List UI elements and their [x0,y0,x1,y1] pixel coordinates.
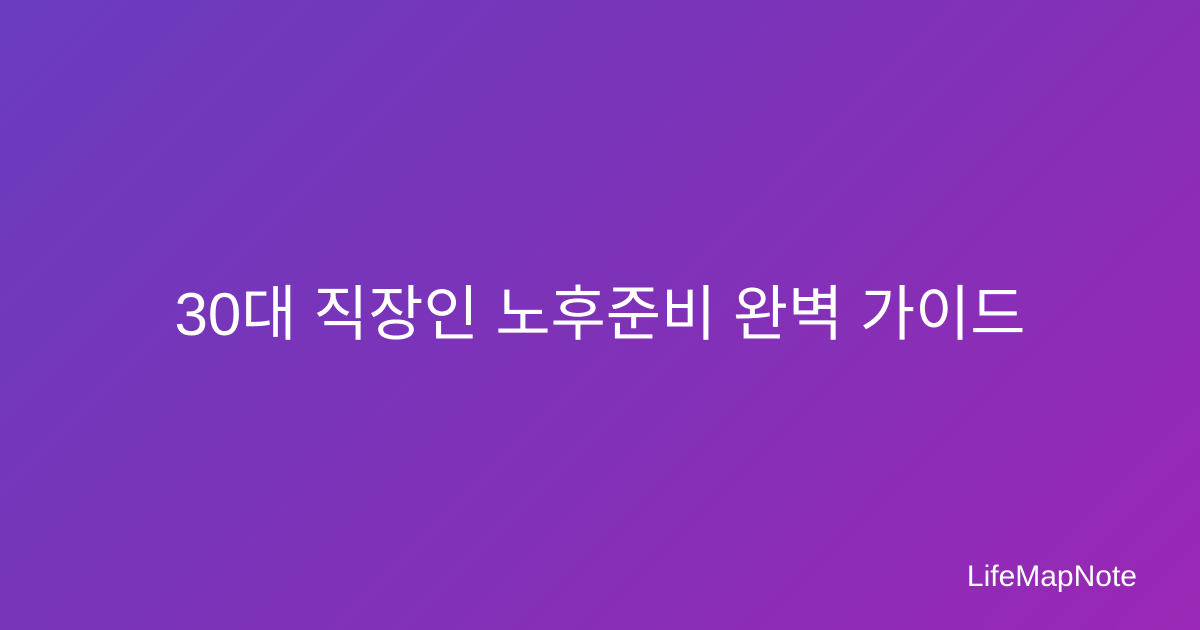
og-card: 30대 직장인 노후준비 완벽 가이드 LifeMapNote [0,0,1200,630]
page-title: 30대 직장인 노후준비 완벽 가이드 [174,276,1025,354]
headline-container: 30대 직장인 노후준비 완벽 가이드 [0,0,1200,630]
brand-watermark: LifeMapNote [967,562,1137,592]
